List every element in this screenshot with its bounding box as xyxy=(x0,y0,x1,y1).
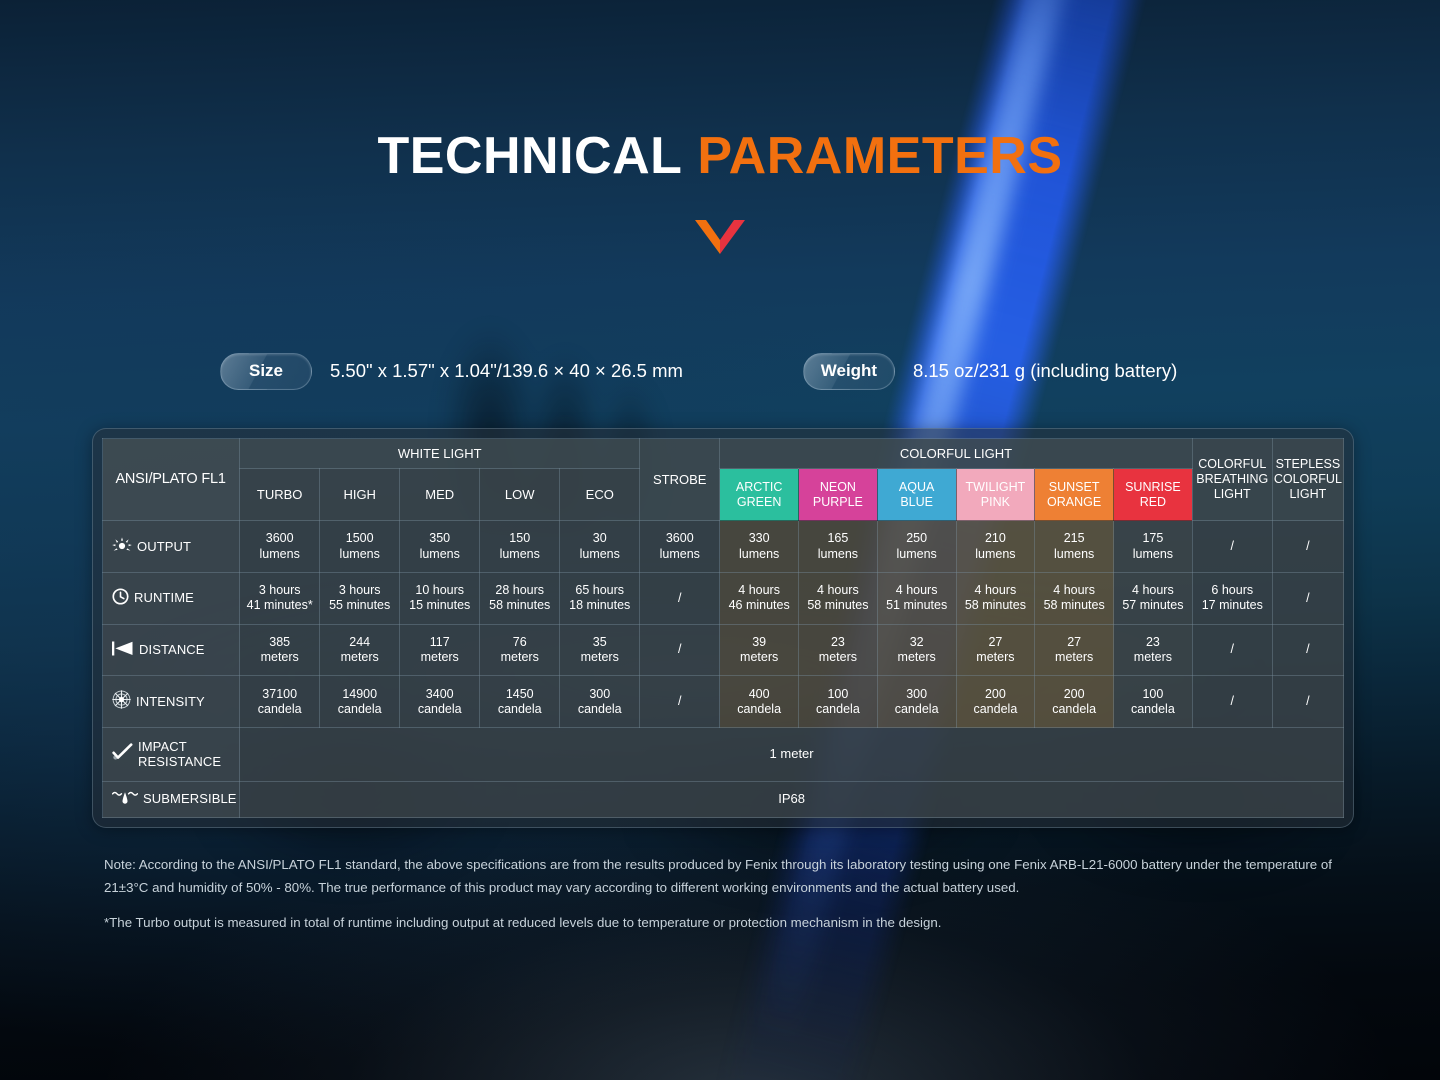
group-white-light: WHITE LIGHT xyxy=(240,439,640,469)
clock-icon xyxy=(112,588,129,609)
cell-output-aqua-blue: 250lumens xyxy=(877,521,956,573)
cell-intensity-neon-purple: 100candela xyxy=(799,676,878,728)
cell-runtime-breathing: 6 hours17 minutes xyxy=(1192,572,1272,624)
page-title: TECHNICAL PARAMETERS xyxy=(0,130,1440,182)
cell-distance-strobe: / xyxy=(640,624,720,676)
cell-output-eco: 30lumens xyxy=(560,521,640,573)
cell-distance-aqua-blue: 32meters xyxy=(877,624,956,676)
cell-output-arctic-green: 330lumens xyxy=(720,521,799,573)
weight-value: 8.15 oz/231 g (including battery) xyxy=(913,360,1177,382)
col-mode-neon-purple: NEONPURPLE xyxy=(799,469,878,521)
col-mode-twilight-pink: TWILIGHTPINK xyxy=(956,469,1035,521)
cell-output-high: 1500lumens xyxy=(320,521,400,573)
cell-runtime-low: 28 hours58 minutes xyxy=(480,572,560,624)
cell-intensity-twilight-pink: 200candela xyxy=(956,676,1035,728)
cell-intensity-sunrise-red: 100candela xyxy=(1114,676,1193,728)
cell-intensity-med: 3400candela xyxy=(400,676,480,728)
size-pill: Size xyxy=(220,353,312,390)
col-mode-eco: ECO xyxy=(560,469,640,521)
title-orange-part: PARAMETERS xyxy=(697,127,1062,185)
cell-intensity-strobe: / xyxy=(640,676,720,728)
cell-distance-stepless: / xyxy=(1272,624,1343,676)
cell-output-low: 150lumens xyxy=(480,521,560,573)
size-badge-group: Size 5.50" x 1.57" x 1.04"/139.6 × 40 × … xyxy=(220,353,683,390)
cell-distance-breathing: / xyxy=(1192,624,1272,676)
col-mode-arctic-green: ARCTICGREEN xyxy=(720,469,799,521)
spec-table-frame: ANSI/PLATO FL1WHITE LIGHTSTROBECOLORFUL … xyxy=(92,428,1354,828)
group-colorful-light: COLORFUL LIGHT xyxy=(720,439,1193,469)
cell-runtime-turbo: 3 hours41 minutes* xyxy=(240,572,320,624)
cell-runtime-high: 3 hours55 minutes xyxy=(320,572,400,624)
cell-runtime-twilight-pink: 4 hours58 minutes xyxy=(956,572,1035,624)
row-label-output: OUTPUT xyxy=(103,521,240,573)
group-strobe: STROBE xyxy=(640,439,720,521)
cell-runtime-stepless: / xyxy=(1272,572,1343,624)
row-label-impact-resistance: IMPACTRESISTANCE xyxy=(103,728,240,782)
row-label-distance: DISTANCE xyxy=(103,624,240,676)
table-row: INTENSITY37100candela14900candela3400can… xyxy=(103,676,1344,728)
burst-light-icon xyxy=(112,537,132,557)
cell-runtime-sunrise-red: 4 hours57 minutes xyxy=(1114,572,1193,624)
col-colorful-breathing-light: COLORFULBREATHINGLIGHT xyxy=(1192,439,1272,521)
col-mode-low: LOW xyxy=(480,469,560,521)
cell-runtime-strobe: / xyxy=(640,572,720,624)
spec-table: ANSI/PLATO FL1WHITE LIGHTSTROBECOLORFUL … xyxy=(102,438,1344,818)
col-mode-sunrise-red: SUNRISERED xyxy=(1114,469,1193,521)
cell-intensity-arctic-green: 400candela xyxy=(720,676,799,728)
cell-impact-resistance-value: 1 meter xyxy=(240,728,1344,782)
water-drop-icon xyxy=(112,789,138,809)
cell-runtime-eco: 65 hours18 minutes xyxy=(560,572,640,624)
footnotes: Note: According to the ANSI/PLATO FL1 st… xyxy=(104,854,1354,935)
cell-output-breathing: / xyxy=(1192,521,1272,573)
table-row: DISTANCE385meters244meters117meters76met… xyxy=(103,624,1344,676)
cell-runtime-sunset-orange: 4 hours58 minutes xyxy=(1035,572,1114,624)
cell-output-sunset-orange: 215lumens xyxy=(1035,521,1114,573)
cell-distance-arctic-green: 39meters xyxy=(720,624,799,676)
cell-submersible-value: IP68 xyxy=(240,781,1344,817)
cell-intensity-low: 1450candela xyxy=(480,676,560,728)
cell-output-stepless: / xyxy=(1272,521,1343,573)
note-turbo: *The Turbo output is measured in total o… xyxy=(104,912,1354,935)
cell-runtime-aqua-blue: 4 hours51 minutes xyxy=(877,572,956,624)
spec-badges: Size 5.50" x 1.57" x 1.04"/139.6 × 40 × … xyxy=(220,352,1300,390)
cell-intensity-turbo: 37100candela xyxy=(240,676,320,728)
check-drop-icon xyxy=(112,743,133,765)
table-header-row-modes: TURBOHIGHMEDLOWECOARCTICGREENNEONPURPLEA… xyxy=(103,469,1344,521)
col-mode-sunset-orange: SUNSETORANGE xyxy=(1035,469,1114,521)
size-value: 5.50" x 1.57" x 1.04"/139.6 × 40 × 26.5 … xyxy=(330,360,683,382)
note-ansi: Note: According to the ANSI/PLATO FL1 st… xyxy=(104,854,1354,900)
cell-distance-sunrise-red: 23meters xyxy=(1114,624,1193,676)
col-stepless-colorful-light: STEPLESSCOLORFULLIGHT xyxy=(1272,439,1343,521)
row-label-runtime: RUNTIME xyxy=(103,572,240,624)
page-stage: TECHNICAL PARAMETERS Size 5.50" x 1.57" … xyxy=(0,0,1440,1080)
radial-beam-icon xyxy=(112,690,131,713)
cell-output-twilight-pink: 210lumens xyxy=(956,521,1035,573)
col-mode-turbo: TURBO xyxy=(240,469,320,521)
chevron-down-icon xyxy=(0,218,1440,261)
cell-output-sunrise-red: 175lumens xyxy=(1114,521,1193,573)
cell-distance-neon-purple: 23meters xyxy=(799,624,878,676)
table-header-row-groups: ANSI/PLATO FL1WHITE LIGHTSTROBECOLORFUL … xyxy=(103,439,1344,469)
cell-intensity-eco: 300candela xyxy=(560,676,640,728)
cell-distance-turbo: 385meters xyxy=(240,624,320,676)
cell-intensity-sunset-orange: 200candela xyxy=(1035,676,1114,728)
cell-runtime-med: 10 hours15 minutes xyxy=(400,572,480,624)
row-label-intensity: INTENSITY xyxy=(103,676,240,728)
cell-output-med: 350lumens xyxy=(400,521,480,573)
cell-distance-twilight-pink: 27meters xyxy=(956,624,1035,676)
cell-output-neon-purple: 165lumens xyxy=(799,521,878,573)
col-mode-med: MED xyxy=(400,469,480,521)
weight-pill: Weight xyxy=(803,353,895,390)
cell-distance-eco: 35meters xyxy=(560,624,640,676)
cell-distance-sunset-orange: 27meters xyxy=(1035,624,1114,676)
beam-distance-icon xyxy=(112,641,134,660)
cell-intensity-high: 14900candela xyxy=(320,676,400,728)
col-mode-high: HIGH xyxy=(320,469,400,521)
cell-distance-high: 244meters xyxy=(320,624,400,676)
cell-distance-med: 117meters xyxy=(400,624,480,676)
cell-output-strobe: 3600lumens xyxy=(640,521,720,573)
title-white-part: TECHNICAL xyxy=(377,127,682,185)
table-row: IMPACTRESISTANCE1 meter xyxy=(103,728,1344,782)
cell-runtime-arctic-green: 4 hours46 minutes xyxy=(720,572,799,624)
table-row: RUNTIME3 hours41 minutes*3 hours55 minut… xyxy=(103,572,1344,624)
table-row: OUTPUT3600lumens1500lumens350lumens150lu… xyxy=(103,521,1344,573)
row-label-submersible: SUBMERSIBLE xyxy=(103,781,240,817)
cell-intensity-breathing: / xyxy=(1192,676,1272,728)
col-mode-aqua-blue: AQUABLUE xyxy=(877,469,956,521)
cell-distance-low: 76meters xyxy=(480,624,560,676)
cell-runtime-neon-purple: 4 hours58 minutes xyxy=(799,572,878,624)
weight-badge-group: Weight 8.15 oz/231 g (including battery) xyxy=(803,353,1177,390)
cell-output-turbo: 3600lumens xyxy=(240,521,320,573)
cell-intensity-stepless: / xyxy=(1272,676,1343,728)
corner-label: ANSI/PLATO FL1 xyxy=(103,439,240,521)
table-row: SUBMERSIBLEIP68 xyxy=(103,781,1344,817)
cell-intensity-aqua-blue: 300candela xyxy=(877,676,956,728)
